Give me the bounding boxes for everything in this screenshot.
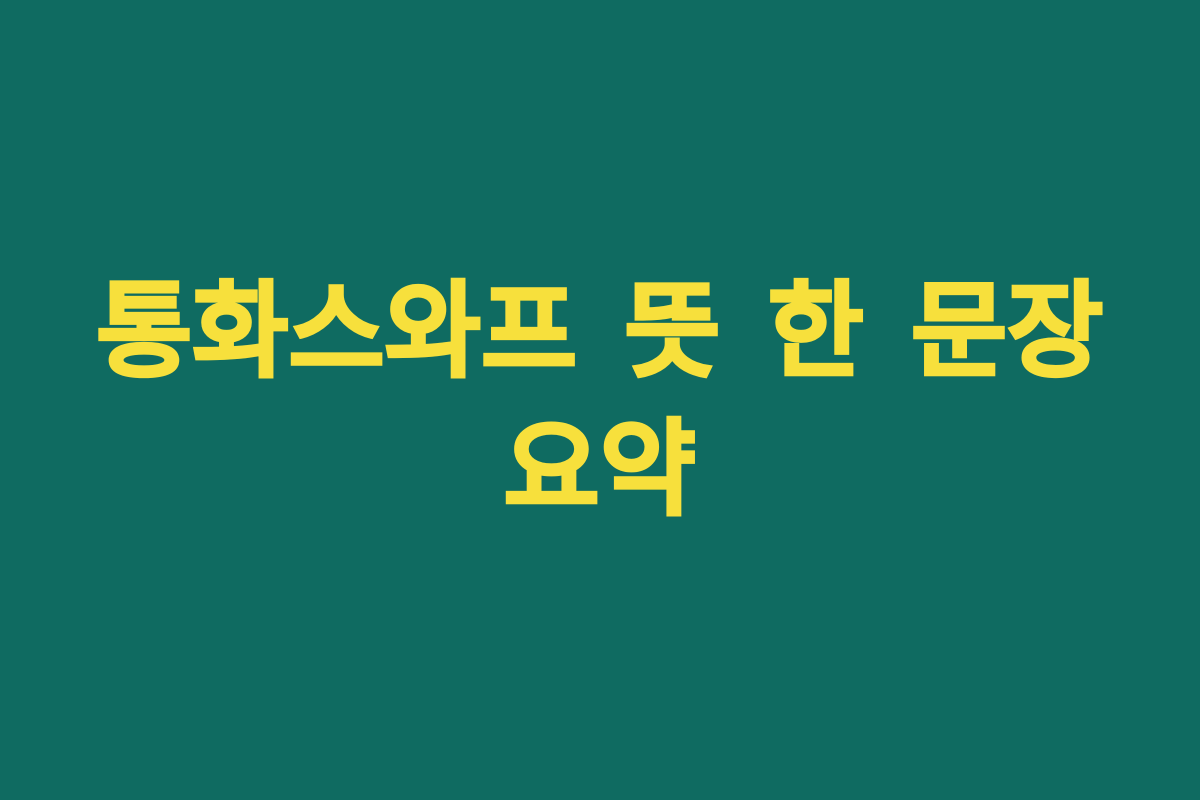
- banner-canvas: 통화스와프 뜻 한 문장 요약: [0, 0, 1200, 800]
- headline-text: 통화스와프 뜻 한 문장 요약: [84, 262, 1116, 539]
- headline-block: 통화스와프 뜻 한 문장 요약: [84, 262, 1116, 539]
